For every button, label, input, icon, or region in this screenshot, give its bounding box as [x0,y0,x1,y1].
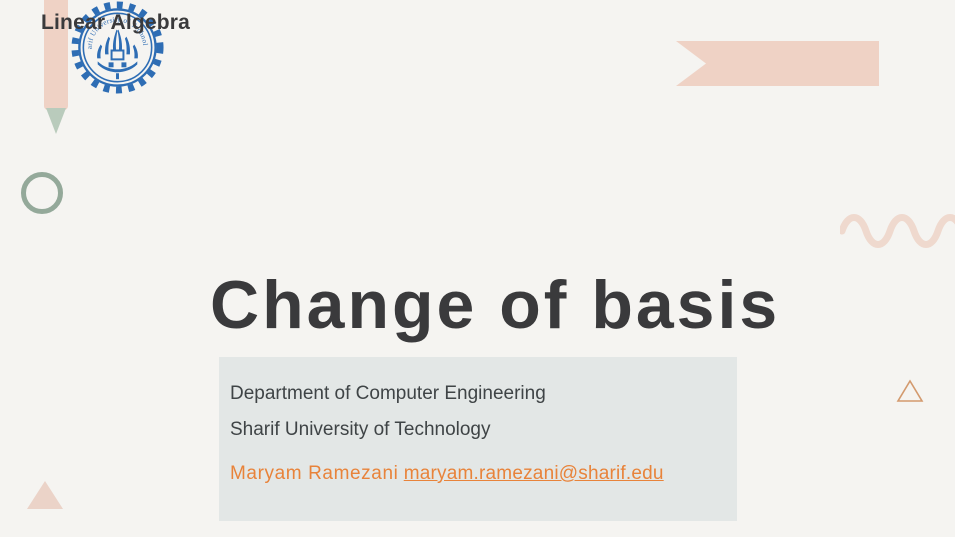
ribbon-banner [676,41,879,86]
department-line: Department of Computer Engineering [230,376,737,412]
page-title: Change of basis [210,271,780,339]
author-name: Maryam Ramezani [230,463,398,484]
triangle-solid-decoration [27,481,63,509]
ribbon-label: Linear Algebra [41,0,947,45]
triangle-outline-decoration [895,378,925,404]
author-line: Maryam Ramezani maryam.ramezani@sharif.e… [230,459,737,489]
pencil-tip [46,108,66,134]
squiggle-decoration [840,205,955,249]
slide-canvas: Sharif University of Technology Linear A… [0,0,955,537]
info-box: Department of Computer Engineering Shari… [219,357,737,521]
university-line: Sharif University of Technology [230,412,737,448]
circle-outline-decoration [21,172,63,214]
author-email-link[interactable]: maryam.ramezani@sharif.edu [404,463,664,484]
